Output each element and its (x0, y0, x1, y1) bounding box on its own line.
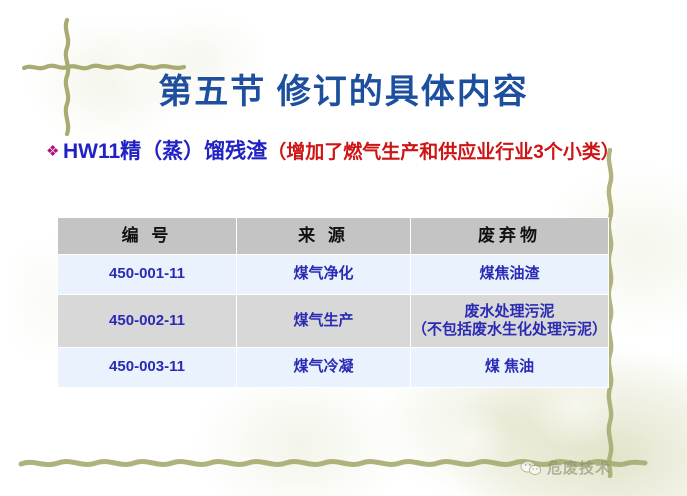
column-header-waste: 废弃物 (411, 218, 608, 254)
background-top-fade (0, 0, 687, 34)
bullet-note-text: （增加了燃气生产和供应业行业3个小类） (267, 142, 620, 163)
table-row: 450-001-11 煤气净化 煤焦油渣 (58, 255, 608, 294)
cell-source: 煤气冷凝 (237, 348, 410, 387)
cell-waste: 煤焦油渣 (411, 255, 608, 294)
table-row: 450-003-11 煤气冷凝 煤 焦油 (58, 348, 608, 387)
cell-waste-line1: 煤 焦油 (411, 358, 608, 376)
table-header-row: 编 号 来 源 废弃物 (58, 218, 608, 254)
wechat-icon (520, 460, 542, 476)
cell-code: 450-001-11 (58, 255, 236, 294)
waste-code-table: 编 号 来 源 废弃物 450-001-11 煤气净化 煤焦油渣 450-002… (57, 217, 609, 388)
cell-waste: 废水处理污泥 （不包括废水生化处理污泥） (411, 295, 608, 347)
column-header-code: 编 号 (58, 218, 236, 254)
cell-waste-line2: （不包括废水生化处理污泥） (411, 321, 608, 339)
watermark: 危废技术 (520, 457, 611, 478)
cell-code: 450-002-11 (58, 295, 236, 347)
cell-waste-line1: 煤焦油渣 (411, 265, 608, 283)
page-title: 第五节 修订的具体内容 (0, 64, 687, 113)
cell-source: 煤气净化 (237, 255, 410, 294)
cell-waste: 煤 焦油 (411, 348, 608, 387)
slide-canvas: 第五节 修订的具体内容 ❖HW11精（蒸）馏残渣（增加了燃气生产和供应业行业3个… (0, 0, 687, 496)
cell-code: 450-003-11 (58, 348, 236, 387)
bullet-main-text: HW11精（蒸）馏残渣 (63, 140, 267, 163)
bamboo-horizontal-bottom-icon (18, 455, 648, 471)
cell-waste-line1: 废水处理污泥 (411, 303, 608, 321)
bullet-paragraph: ❖HW11精（蒸）馏残渣（增加了燃气生产和供应业行业3个小类） (46, 138, 636, 166)
watermark-text: 危废技术 (547, 457, 611, 478)
table-row: 450-002-11 煤气生产 废水处理污泥 （不包括废水生化处理污泥） (58, 295, 608, 347)
diamond-bullet-icon: ❖ (46, 142, 63, 162)
column-header-source: 来 源 (237, 218, 410, 254)
cell-source: 煤气生产 (237, 295, 410, 347)
